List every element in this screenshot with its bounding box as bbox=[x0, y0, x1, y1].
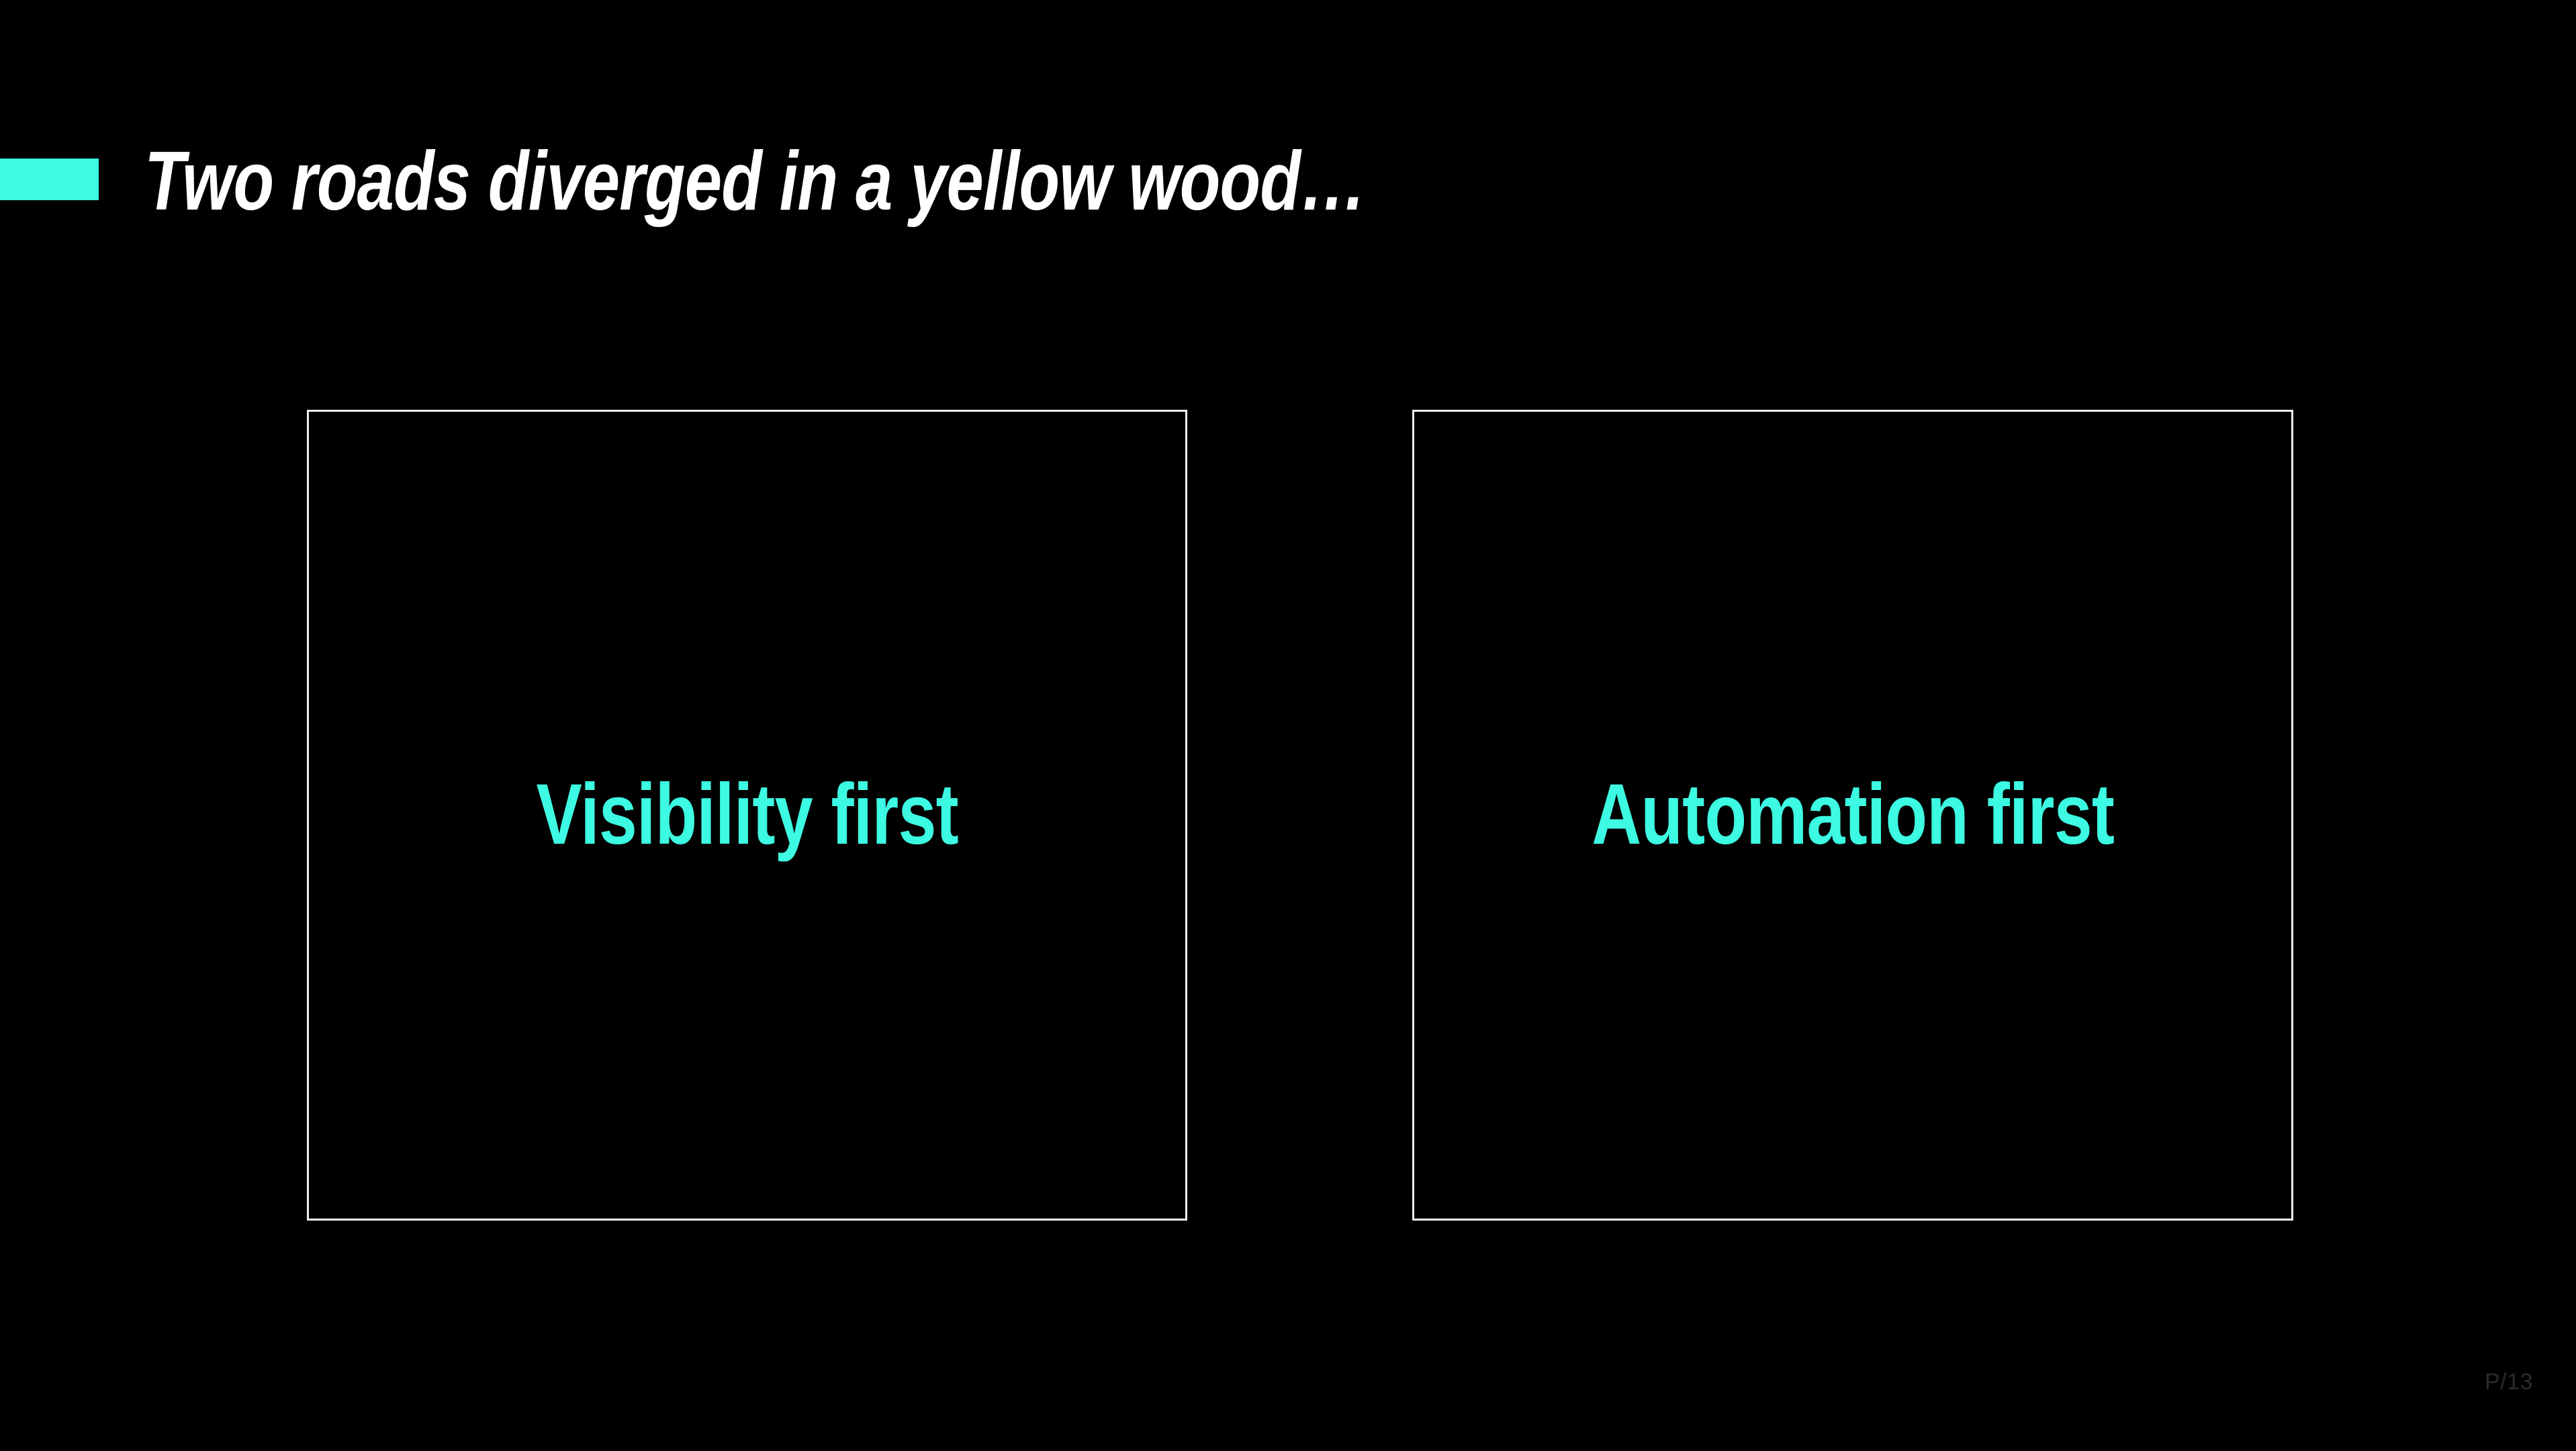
option-label-visibility-first: Visibility first bbox=[536, 770, 958, 860]
page-number: P/13 bbox=[2485, 1369, 2533, 1395]
option-box-automation-first[interactable]: Automation first bbox=[1412, 410, 2293, 1221]
slide-canvas: Two roads diverged in a yellow wood… Vis… bbox=[0, 0, 2576, 1451]
option-label-automation-first: Automation first bbox=[1592, 770, 2114, 860]
options-area: Visibility first Automation first bbox=[0, 0, 2576, 1451]
option-box-visibility-first[interactable]: Visibility first bbox=[307, 410, 1187, 1221]
